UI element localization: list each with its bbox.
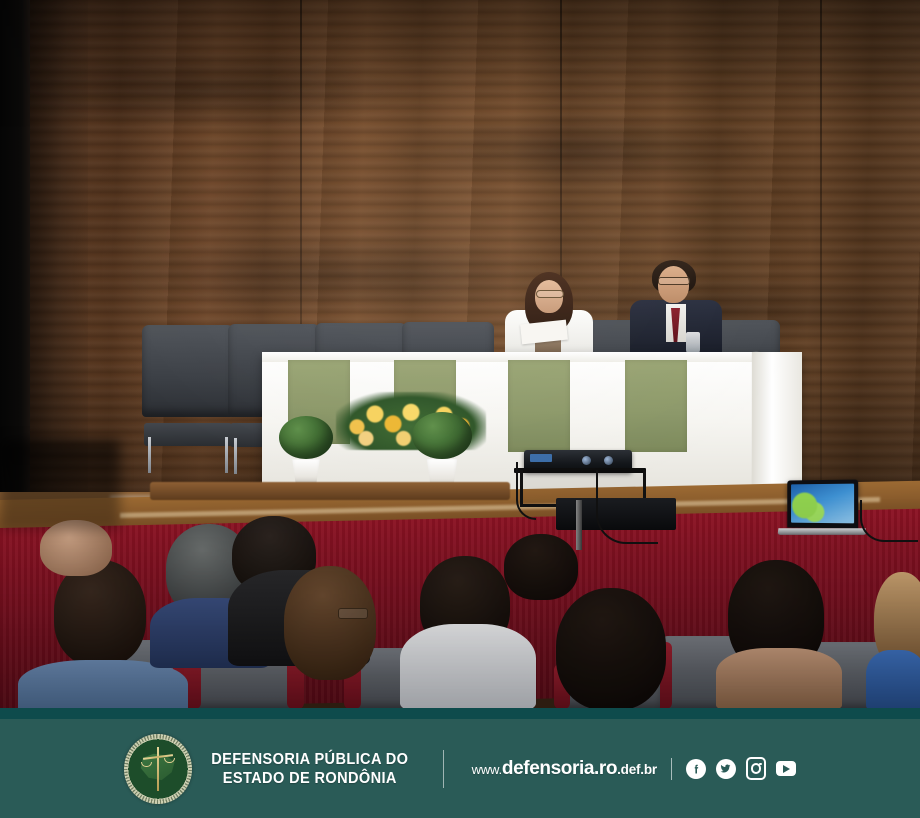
audience-person <box>556 588 666 710</box>
brand-title: DEFENSORIA PÚBLICA DO ESTADO DE RONDÔNIA <box>211 750 408 788</box>
url-tld: .def.br <box>617 762 657 777</box>
water-glass <box>686 332 700 354</box>
speaker-left <box>505 268 593 360</box>
url-main: defensoria.ro <box>502 758 617 780</box>
table-runner <box>508 360 570 452</box>
tablecloth-right-fold <box>752 352 802 492</box>
footer-divider <box>443 750 444 788</box>
wooden-beam <box>150 482 510 500</box>
instagram-icon[interactable] <box>746 759 766 779</box>
screenshot-root: DEFENSORIA PÚBLICA DO ESTADO DE RONDÔNIA… <box>0 0 920 818</box>
wall-seam <box>820 0 822 500</box>
laptop <box>787 479 858 528</box>
topiary-plant <box>279 416 333 486</box>
event-photo <box>0 0 920 710</box>
twitter-icon[interactable] <box>716 759 736 779</box>
audience-person-body <box>866 650 920 710</box>
foreground-shadow <box>0 440 120 530</box>
wall-shadow-edge <box>28 0 88 505</box>
cable <box>860 500 918 542</box>
youtube-icon[interactable] <box>776 759 796 779</box>
seal-scale-post <box>157 747 159 791</box>
brand-block: DEFENSORIA PÚBLICA DO ESTADO DE RONDÔNIA <box>124 734 415 804</box>
footer-bar: DEFENSORIA PÚBLICA DO ESTADO DE RONDÔNIA… <box>0 708 920 818</box>
social-links <box>686 759 796 779</box>
chair <box>142 325 234 473</box>
projector-pole <box>576 500 582 550</box>
footer-top-band <box>0 708 920 719</box>
table-runner <box>625 360 687 452</box>
cable <box>516 462 536 520</box>
brand-title-line2: ESTADO DE RONDÔNIA <box>211 769 408 788</box>
audience-person-body <box>400 624 536 710</box>
cable <box>596 470 658 544</box>
speaker-right <box>630 258 722 358</box>
facebook-icon[interactable] <box>686 759 706 779</box>
audience-person <box>284 566 376 680</box>
brand-title-line1: DEFENSORIA PÚBLICA DO <box>211 750 408 769</box>
topiary-plant <box>412 412 472 488</box>
website-url[interactable]: www. defensoria.ro .def.br <box>472 758 657 780</box>
laptop-keyboard <box>778 528 867 535</box>
footer-divider-2 <box>671 758 672 780</box>
url-prefix: www. <box>472 762 502 777</box>
audience-person <box>504 534 578 600</box>
audience-person-body <box>716 648 842 710</box>
eyeglasses <box>338 608 368 619</box>
defensoria-seal-icon <box>124 734 192 804</box>
